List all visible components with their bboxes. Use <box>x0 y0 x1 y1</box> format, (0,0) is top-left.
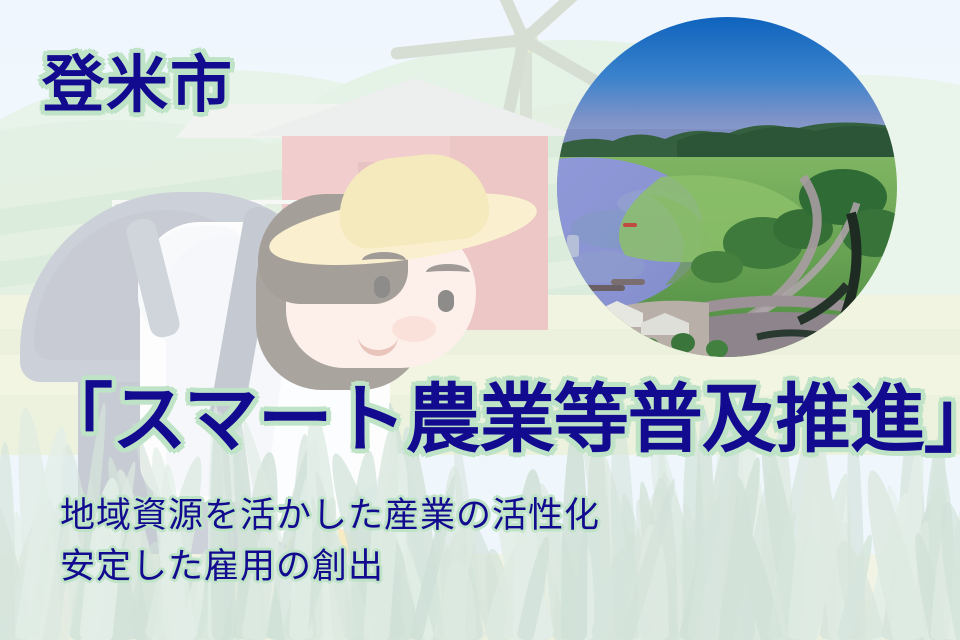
rice-blade <box>0 442 15 640</box>
straw-hat-crown <box>334 148 492 251</box>
farmer-eyebrow-left <box>362 252 406 269</box>
page-title: 「スマート農業等普及推進」 <box>38 358 960 467</box>
farmer-eyebrow-right <box>426 264 470 281</box>
subtitle-line-2: 安定した雇用の創出 <box>60 538 384 589</box>
barn-roof <box>250 78 580 136</box>
farmer-cheek <box>392 316 436 342</box>
farmer-eye-right <box>438 290 454 312</box>
poster-canvas: 登米市 「スマート農業等普及推進」 地域資源を活かした産業の活性化 安定した雇用… <box>0 0 960 640</box>
aerial-photo-inset <box>557 17 897 357</box>
farmer-eye-left <box>374 276 390 298</box>
city-name-title: 登米市 <box>42 34 234 124</box>
subtitle-line-1: 地域資源を活かした産業の活性化 <box>60 487 600 538</box>
